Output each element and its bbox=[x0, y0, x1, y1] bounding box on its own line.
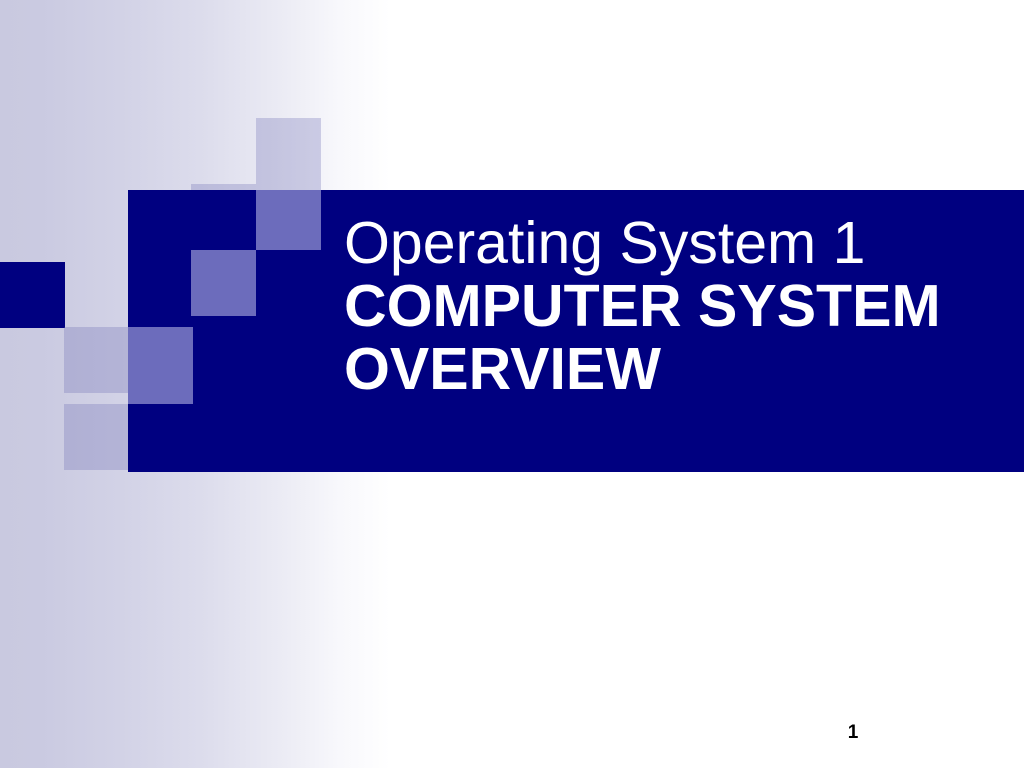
slide-canvas: Operating System 1 COMPUTER SYSTEM OVERV… bbox=[0, 0, 1024, 768]
slide-title: Operating System 1 COMPUTER SYSTEM OVERV… bbox=[344, 212, 1004, 401]
tile-r5-c1 bbox=[64, 404, 129, 470]
title-line-main-2: OVERVIEW bbox=[344, 338, 1004, 401]
tile-r4-c1 bbox=[64, 327, 129, 393]
page-number: 1 bbox=[838, 722, 868, 744]
title-line-main-1: COMPUTER SYSTEM bbox=[344, 275, 1004, 338]
title-line-subject: Operating System 1 bbox=[344, 212, 1004, 275]
tile-r1-c4 bbox=[256, 118, 321, 184]
tile-navy-far-left bbox=[0, 262, 65, 328]
